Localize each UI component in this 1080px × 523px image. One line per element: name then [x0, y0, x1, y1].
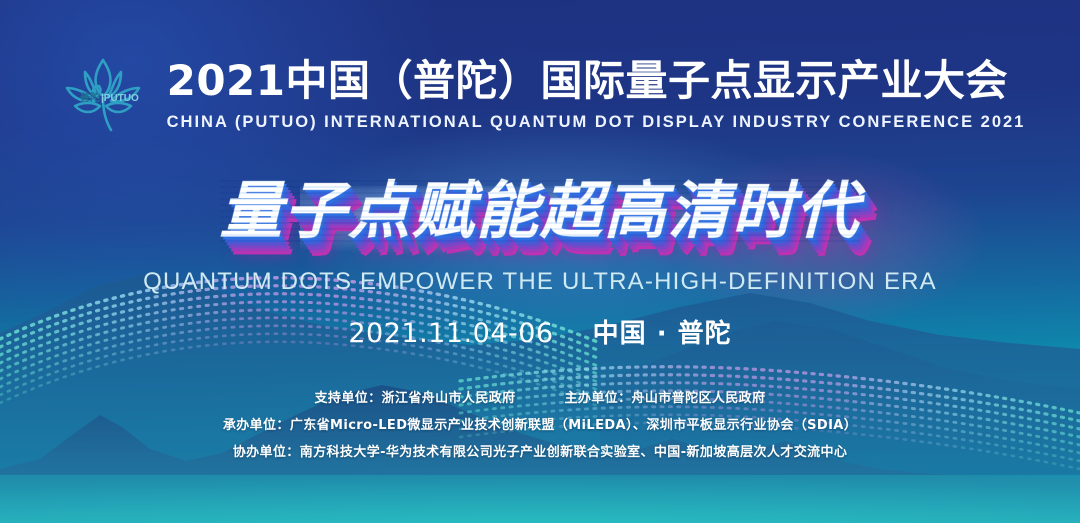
slogan-en: QUANTUM DOTS EMPOWER THE ULTRA-HIGH-DEFI…: [0, 268, 1080, 296]
credit-line-host: 承办单位：广东省Micro-LED微显示产业技术创新联盟（MiLEDA）、深圳市…: [0, 419, 1080, 432]
lotus-logo-icon: 普陀 |PUTUO: [55, 52, 151, 138]
logo-cn-text: 普陀: [80, 91, 100, 104]
conference-title-en: CHINA (PUTUO) INTERNATIONAL QUANTUM DOT …: [167, 113, 1026, 132]
slogan-block: 量子点赋能超高清时代: [0, 180, 1080, 266]
conference-banner: 普陀 |PUTUO 2021中国（普陀）国际量子点显示产业大会 CHINA (P…: [0, 0, 1080, 523]
credit-segment: 主办单位：舟山市普陀区人民政府: [564, 391, 765, 406]
event-details: 2021.11.04-06 中国 · 普陀: [0, 313, 1080, 350]
organizer-credits: 支持单位：浙江省舟山市人民政府 主办单位：舟山市普陀区人民政府 承办单位：广东省…: [0, 392, 1080, 459]
credit-line-support: 支持单位：浙江省舟山市人民政府 主办单位：舟山市普陀区人民政府: [0, 392, 1080, 405]
logo-en-text: |PUTUO: [101, 93, 139, 104]
event-date: 2021.11.04-06: [348, 318, 553, 349]
credit-segment: 承办单位：广东省Micro-LED微显示产业技术创新联盟（MiLEDA）、深圳市…: [223, 418, 857, 433]
credit-segment: 协办单位：南方科技大学-华为技术有限公司光子产业创新联合实验室、中国-新加坡高层…: [233, 445, 848, 460]
slogan-cn: 量子点赋能超高清时代: [220, 180, 860, 242]
title-block: 2021中国（普陀）国际量子点显示产业大会 CHINA (PUTUO) INTE…: [167, 58, 1026, 132]
banner-header: 普陀 |PUTUO 2021中国（普陀）国际量子点显示产业大会 CHINA (P…: [0, 52, 1080, 138]
credit-segment: 支持单位：浙江省舟山市人民政府: [315, 391, 516, 406]
slogan-cn-text: 量子点赋能超高清时代: [220, 174, 860, 247]
conference-title-cn: 2021中国（普陀）国际量子点显示产业大会: [167, 58, 1026, 103]
credit-line-coorganizer: 协办单位：南方科技大学-华为技术有限公司光子产业创新联合实验室、中国-新加坡高层…: [0, 446, 1080, 459]
event-place: 中国 · 普陀: [593, 319, 732, 349]
